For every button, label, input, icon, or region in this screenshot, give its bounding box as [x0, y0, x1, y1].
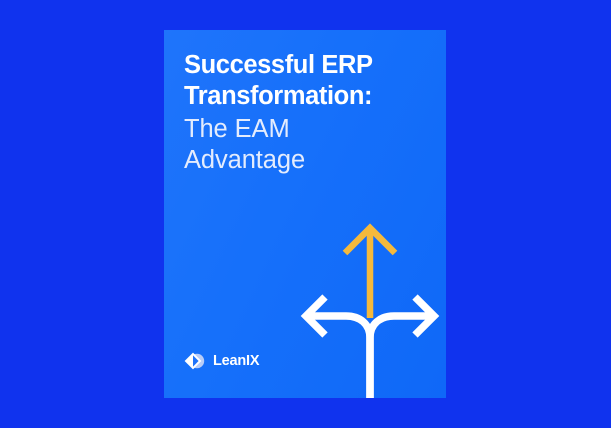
- page-background: Successful ERP Transformation: The EAM A…: [0, 0, 611, 428]
- forked-arrow-svg: [294, 212, 446, 398]
- leanix-wordmark: LeanIX: [213, 354, 259, 369]
- cover-title-secondary: The EAM Advantage: [184, 114, 432, 176]
- cover-text-block: Successful ERP Transformation: The EAM A…: [184, 50, 432, 175]
- fork-paths: [308, 316, 432, 398]
- ebook-cover-card[interactable]: Successful ERP Transformation: The EAM A…: [164, 30, 446, 398]
- leanix-logo[interactable]: LeanIX: [184, 350, 259, 372]
- leanix-mark-svg: [184, 350, 206, 372]
- leanix-diamond-circle-icon: [184, 350, 206, 372]
- cover-title-primary: Successful ERP Transformation:: [184, 50, 432, 112]
- arrow-up-icon: [345, 228, 395, 318]
- forked-arrow-illustration: [294, 212, 446, 398]
